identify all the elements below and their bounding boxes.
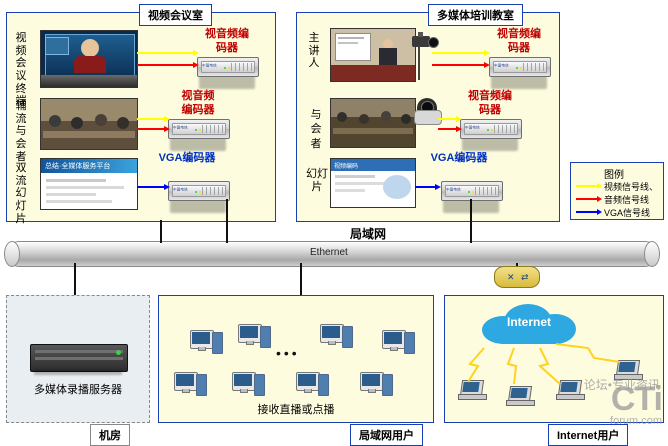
mic-stand bbox=[418, 46, 420, 80]
device-encoder-av-2: 中国电信 bbox=[168, 119, 230, 139]
camera-ptz bbox=[414, 98, 440, 126]
signal-video-right-2-arrow bbox=[456, 116, 462, 122]
device-recording-server bbox=[30, 344, 128, 372]
signal-audio-left-1 bbox=[137, 64, 195, 66]
ethernet-cap-left bbox=[4, 241, 20, 267]
signal-video-right-2 bbox=[438, 118, 458, 120]
signal-audio-right-2-arrow bbox=[456, 126, 462, 132]
panel-title-lan-users: 局域网用户 bbox=[350, 424, 423, 446]
signal-vga-right bbox=[415, 186, 437, 188]
device-brand-label: 中国电信 bbox=[173, 188, 188, 193]
signal-audio-left-2-arrow bbox=[164, 126, 170, 132]
photo-aux-attendees bbox=[40, 98, 138, 150]
photo-video-terminal bbox=[40, 30, 138, 88]
signal-video-left-1 bbox=[137, 52, 195, 54]
label-encoder-av-1: 视音频编码器 bbox=[190, 28, 264, 56]
signal-audio-right-2 bbox=[438, 128, 458, 130]
link-lan-to-clients bbox=[300, 263, 302, 295]
signal-vga-left-arrow bbox=[164, 184, 170, 190]
link-encoder-right-to-lan bbox=[470, 199, 472, 243]
legend-line-video bbox=[576, 185, 598, 187]
device-brand-label: 中国电信 bbox=[494, 64, 509, 69]
signal-vga-left bbox=[137, 186, 165, 188]
signal-audio-left-1-arrow bbox=[193, 62, 199, 68]
label-recording-server: 多媒体录播服务器 bbox=[22, 384, 134, 397]
internet-label: Internet bbox=[492, 315, 566, 329]
device-encoder-av-3: 中国电信 bbox=[489, 57, 551, 77]
device-encoder-av-1: 中国电信 bbox=[197, 57, 259, 77]
link-encoder1-to-lan bbox=[226, 199, 228, 243]
ethernet-label: Ethernet bbox=[310, 247, 348, 258]
label-video-terminal: 视频会议终端 bbox=[8, 32, 34, 108]
signal-audio-left-2 bbox=[137, 128, 165, 130]
signal-audio-right-1-arrow bbox=[484, 62, 490, 68]
legend-arrow-audio bbox=[597, 196, 602, 202]
label-speaker: 主讲人 bbox=[306, 32, 322, 70]
panel-title-multimedia-room: 多媒体培训教室 bbox=[428, 4, 523, 26]
signal-video-left-2-arrow bbox=[164, 116, 170, 122]
label-encoder-vga-right: VGA编码器 bbox=[413, 152, 505, 165]
watermark-line2: forum.com bbox=[610, 415, 662, 427]
label-lan-clients: 接收直播或点播 bbox=[236, 404, 356, 417]
device-brand-label: 中国电信 bbox=[446, 188, 461, 193]
signal-vga-right-arrow bbox=[435, 184, 441, 190]
panel-title-internet-users: Internet用户 bbox=[548, 424, 628, 446]
photo-classroom bbox=[330, 98, 416, 148]
device-encoder-vga-right: 中国电信 bbox=[441, 181, 503, 201]
label-encoder-av-3: 视音频编码器 bbox=[482, 28, 556, 56]
signal-audio-right-1 bbox=[432, 64, 486, 66]
label-dual-slide: 双流幻灯片 bbox=[8, 162, 34, 225]
panel-title-video-conf-room: 视频会议室 bbox=[139, 4, 212, 26]
legend-label-audio: 音频信号线 bbox=[604, 193, 649, 206]
ethernet-cap-right bbox=[644, 241, 660, 267]
photo-slide-right: 视频编码 bbox=[330, 158, 416, 208]
label-encoder-av-4: 视音频编码器 bbox=[453, 90, 527, 118]
legend-arrow-vga bbox=[597, 209, 602, 215]
legend-title: 图例 bbox=[604, 166, 624, 181]
label-aux-attendee: 辅流与会者 bbox=[8, 100, 34, 163]
signal-video-right-1-arrow bbox=[484, 50, 490, 56]
device-brand-label: 中国电信 bbox=[202, 64, 217, 69]
legend-arrow-video bbox=[597, 183, 602, 189]
camera-speaker bbox=[412, 32, 438, 48]
label-slide-right: 幻灯片 bbox=[304, 168, 330, 193]
label-lan: 局域网 bbox=[350, 228, 386, 242]
ellipsis-dots: ••• bbox=[276, 345, 300, 361]
legend-line-vga bbox=[576, 211, 598, 213]
link-encoder2-to-lan bbox=[160, 220, 162, 243]
signal-video-left-2 bbox=[137, 118, 165, 120]
photo-dual-slide: 总结·全媒体服务平台 bbox=[40, 158, 138, 210]
device-router: ✕ ⇄ bbox=[494, 266, 540, 288]
device-encoder-vga-left: 中国电信 bbox=[168, 181, 230, 201]
legend-label-vga: VGA信号线 bbox=[604, 206, 650, 219]
device-brand-label: 中国电信 bbox=[173, 126, 188, 131]
device-encoder-av-4: 中国电信 bbox=[460, 119, 522, 139]
label-encoder-vga-left: VGA编码器 bbox=[141, 152, 233, 165]
legend-line-audio bbox=[576, 198, 598, 200]
signal-video-right-1 bbox=[432, 52, 486, 54]
watermark-line1: 论坛•专业资讯 bbox=[584, 376, 660, 393]
photo-speaker bbox=[330, 28, 416, 82]
legend-label-video: 视频信号线、 bbox=[604, 180, 658, 193]
label-attendee: 与会者 bbox=[302, 108, 330, 151]
device-brand-label: 中国电信 bbox=[465, 126, 480, 131]
panel-title-machine-room: 机房 bbox=[90, 424, 130, 446]
signal-video-left-1-arrow bbox=[193, 50, 199, 56]
label-encoder-av-2: 视音频编码器 bbox=[161, 90, 235, 118]
